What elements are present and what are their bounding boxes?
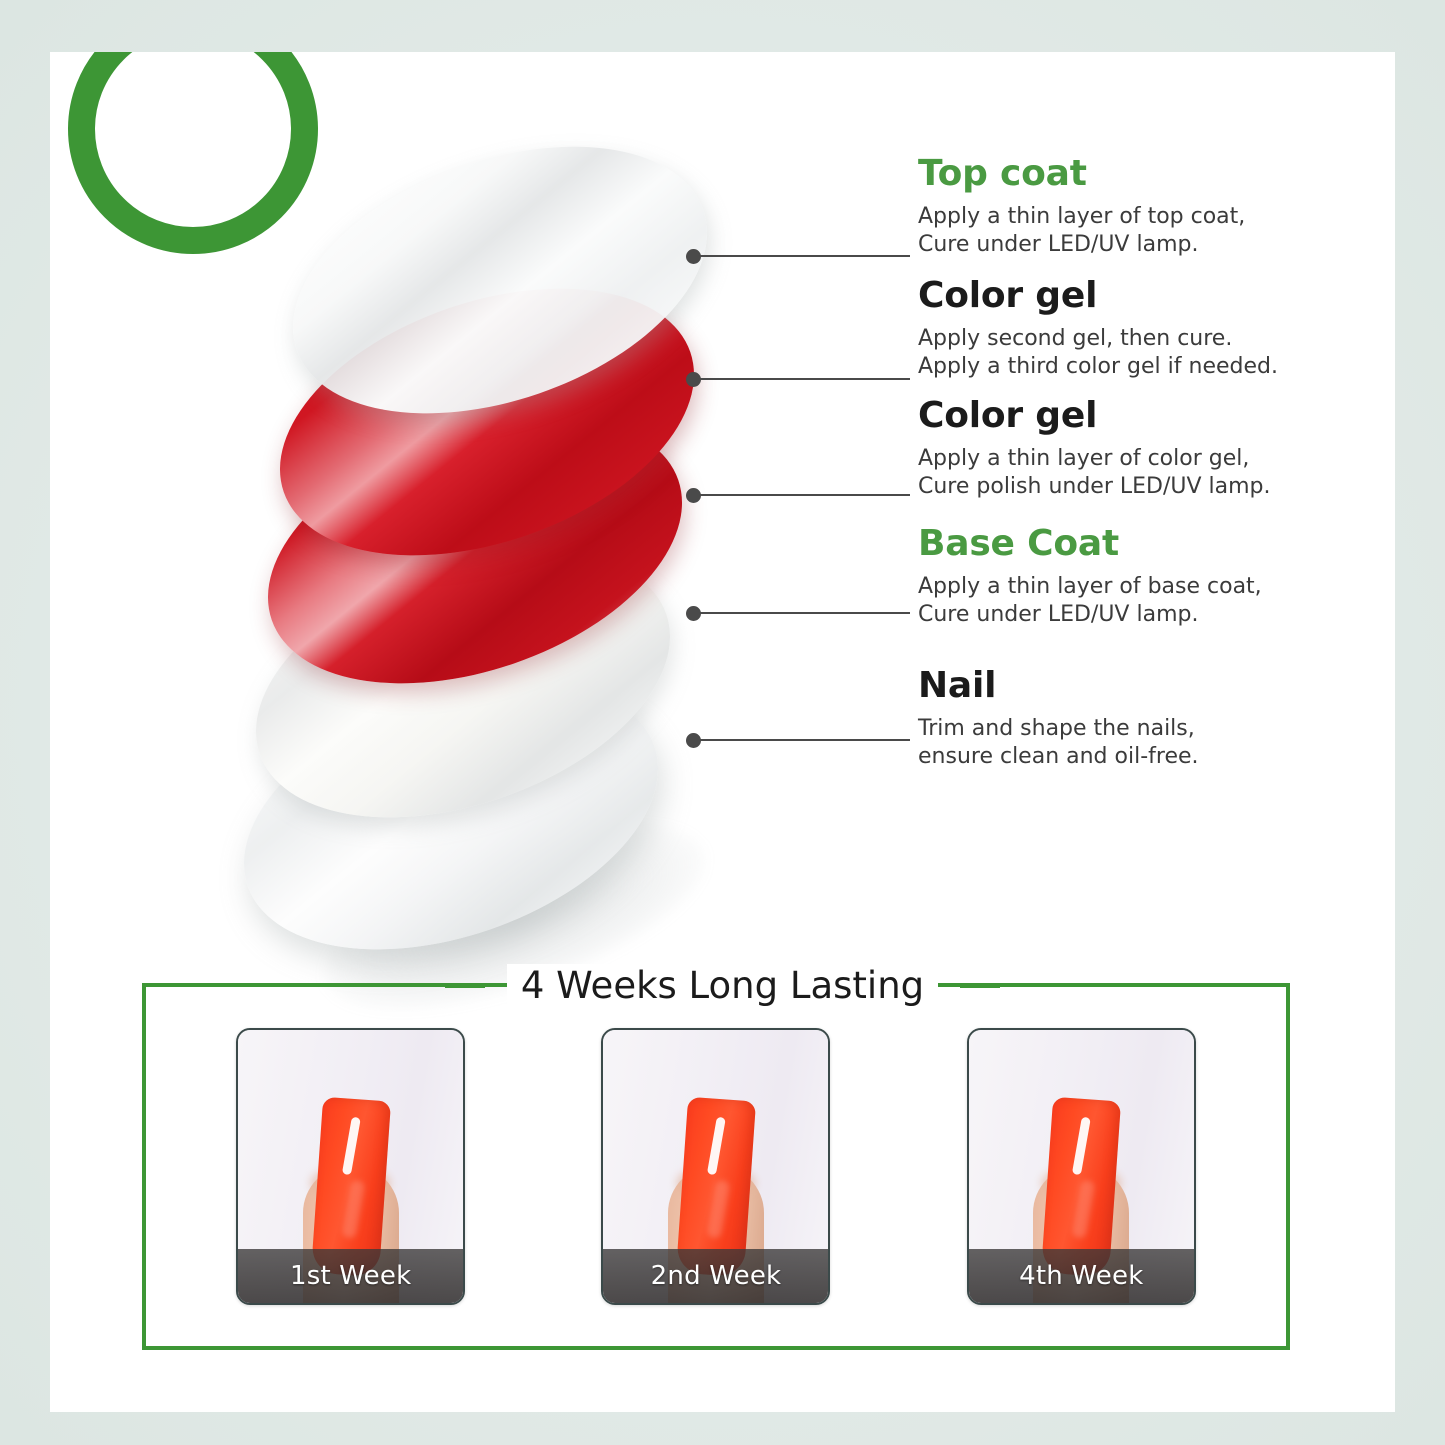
long-lasting-title: 4 Weeks Long Lasting <box>507 964 938 1007</box>
callout-title-top-coat: Top coat <box>918 154 1388 194</box>
callout-line2-nail: ensure clean and oil-free. <box>918 743 1388 771</box>
week-1-label: 1st Week <box>290 1261 411 1291</box>
callout-line1-color-gel-2: Apply second gel, then cure. <box>918 325 1388 353</box>
long-lasting-title-row: 4 Weeks Long Lasting <box>50 964 1395 1007</box>
callout-line-top-coat <box>698 255 910 257</box>
callout-line1-base-coat: Apply a thin layer of base coat, <box>918 573 1388 601</box>
product-info-card: Top coat Apply a thin layer of top coat,… <box>50 52 1395 1412</box>
callout-line1-color-gel-1: Apply a thin layer of color gel, <box>918 445 1388 473</box>
week-2-label: 2nd Week <box>651 1261 782 1291</box>
callout-nail: Nail Trim and shape the nails, ensure cl… <box>918 666 1388 771</box>
callout-line2-color-gel-1: Cure polish under LED/UV lamp. <box>918 473 1388 501</box>
week-1-label-bar: 1st Week <box>238 1249 463 1303</box>
callout-color-gel-1: Color gel Apply a thin layer of color ge… <box>918 396 1388 501</box>
callout-title-color-gel-2: Color gel <box>918 276 1388 316</box>
callout-title-base-coat: Base Coat <box>918 524 1388 564</box>
week-4-label: 4th Week <box>1019 1261 1143 1291</box>
long-lasting-card-row: 1st Week 2nd Week 4th Week <box>142 983 1290 1350</box>
callout-title-color-gel-1: Color gel <box>918 396 1388 436</box>
callout-title-nail: Nail <box>918 666 1388 706</box>
week-card-4[interactable]: 4th Week <box>967 1028 1196 1305</box>
callout-line2-color-gel-2: Apply a third color gel if needed. <box>918 353 1388 381</box>
callout-line-color-gel-2 <box>698 378 910 380</box>
callout-top-coat: Top coat Apply a thin layer of top coat,… <box>918 154 1388 259</box>
week-2-label-bar: 2nd Week <box>603 1249 828 1303</box>
title-rule-left <box>445 984 485 988</box>
callout-base-coat: Base Coat Apply a thin layer of base coa… <box>918 524 1388 629</box>
callout-line2-top-coat: Cure under LED/UV lamp. <box>918 231 1388 259</box>
title-rule-right <box>960 984 1000 988</box>
callout-line-nail <box>698 739 910 741</box>
callout-line1-top-coat: Apply a thin layer of top coat, <box>918 203 1388 231</box>
callout-line1-nail: Trim and shape the nails, <box>918 715 1388 743</box>
gel-nail-layers-exploded-diagram <box>230 112 790 992</box>
week-4-label-bar: 4th Week <box>969 1249 1194 1303</box>
week-card-1[interactable]: 1st Week <box>236 1028 465 1305</box>
week-card-2[interactable]: 2nd Week <box>601 1028 830 1305</box>
callout-line-color-gel-1 <box>698 494 910 496</box>
callout-color-gel-2: Color gel Apply second gel, then cure. A… <box>918 276 1388 381</box>
callout-line-base-coat <box>698 612 910 614</box>
callout-line2-base-coat: Cure under LED/UV lamp. <box>918 601 1388 629</box>
